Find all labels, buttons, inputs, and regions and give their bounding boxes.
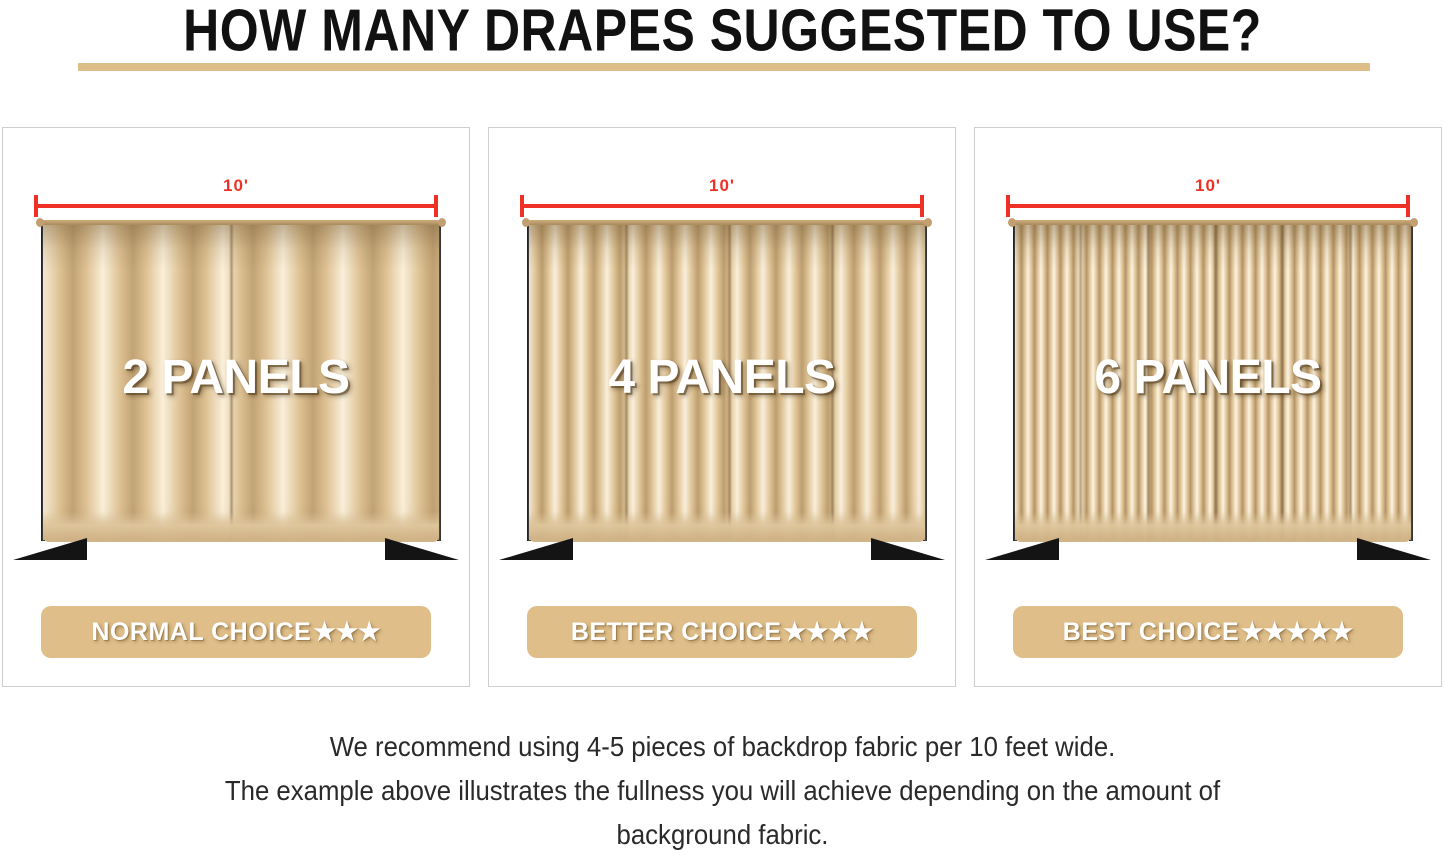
caption-line-1: We recommend using 4-5 pieces of backdro…: [58, 725, 1387, 769]
dimension-line-icon: [35, 204, 437, 208]
choice-badge-stars-icon: ★★★★★: [1241, 617, 1353, 647]
caption-line-2: The example above illustrates the fullne…: [58, 769, 1387, 813]
card-spacer: [470, 127, 488, 687]
rod-end-right-icon: [924, 218, 932, 227]
choice-badge-label: BEST CHOICE: [1063, 618, 1239, 647]
curtain-bottom-hem: [43, 512, 439, 542]
choice-badge-label: NORMAL CHOICE: [91, 618, 311, 647]
choice-badge-text: BETTER CHOICE★★★★: [571, 617, 873, 647]
dimension-endcap-left-icon: [520, 195, 524, 217]
dimension-line-icon: [521, 204, 923, 208]
choice-badge-text: NORMAL CHOICE★★★: [91, 617, 380, 647]
rod-end-right-icon: [1410, 218, 1418, 227]
choice-badge-best: BEST CHOICE★★★★★: [1013, 606, 1403, 658]
choice-badge-stars-icon: ★★★: [313, 617, 380, 647]
drape-option-card-6-panels[interactable]: 10' 6 PANELS: [974, 127, 1442, 687]
choice-badge-normal: NORMAL CHOICE★★★: [41, 606, 431, 658]
crossbar-rod-icon: [39, 220, 443, 225]
rod-end-right-icon: [438, 218, 446, 227]
choice-badge-better: BETTER CHOICE★★★★: [527, 606, 917, 658]
panel-count-label: 4 PANELS: [489, 350, 955, 405]
panel-count-label: 6 PANELS: [975, 350, 1441, 405]
curtain-bottom-hem: [1015, 512, 1411, 542]
curtain-top-gather: [43, 224, 439, 270]
drape-option-card-4-panels[interactable]: 10' 4 PANELS BETTER CHOICE★★★★: [488, 127, 956, 687]
crossbar-rod-icon: [525, 220, 929, 225]
dimension-label: 10': [521, 176, 923, 196]
dimension-line-icon: [1007, 204, 1409, 208]
header-divider-rule: [78, 63, 1370, 71]
dimension-endcap-right-icon: [1406, 195, 1410, 217]
dimension-endcap-right-icon: [434, 195, 438, 217]
dimension-endcap-left-icon: [1006, 195, 1010, 217]
rod-end-left-icon: [1008, 218, 1016, 227]
card-spacer: [956, 127, 974, 687]
width-dimension-6-panels: 10': [1007, 180, 1409, 214]
page-title: HOW MANY DRAPES SUGGESTED TO USE?: [0, 0, 1445, 64]
width-dimension-4-panels: 10': [521, 180, 923, 214]
width-dimension-2-panels: 10': [35, 180, 437, 214]
choice-badge-stars-icon: ★★★★: [784, 617, 874, 647]
panel-comparison-row: 10' 2 PANELS NORMAL CHOICE★★★: [0, 127, 1445, 687]
dimension-label: 10': [1007, 176, 1409, 196]
curtain-bottom-hem: [529, 512, 925, 542]
choice-badge-text: BEST CHOICE★★★★★: [1063, 617, 1353, 647]
footer-caption: We recommend using 4-5 pieces of backdro…: [0, 725, 1445, 857]
dimension-endcap-right-icon: [920, 195, 924, 217]
panel-count-label: 2 PANELS: [3, 350, 469, 405]
dimension-endcap-left-icon: [34, 195, 38, 217]
caption-line-3: background fabric.: [58, 813, 1387, 857]
crossbar-rod-icon: [1011, 220, 1415, 225]
rod-end-left-icon: [36, 218, 44, 227]
dimension-label: 10': [35, 176, 437, 196]
rod-end-left-icon: [522, 218, 530, 227]
choice-badge-label: BETTER CHOICE: [571, 618, 782, 647]
header: HOW MANY DRAPES SUGGESTED TO USE?: [0, 0, 1445, 95]
drape-option-card-2-panels[interactable]: 10' 2 PANELS NORMAL CHOICE★★★: [2, 127, 470, 687]
